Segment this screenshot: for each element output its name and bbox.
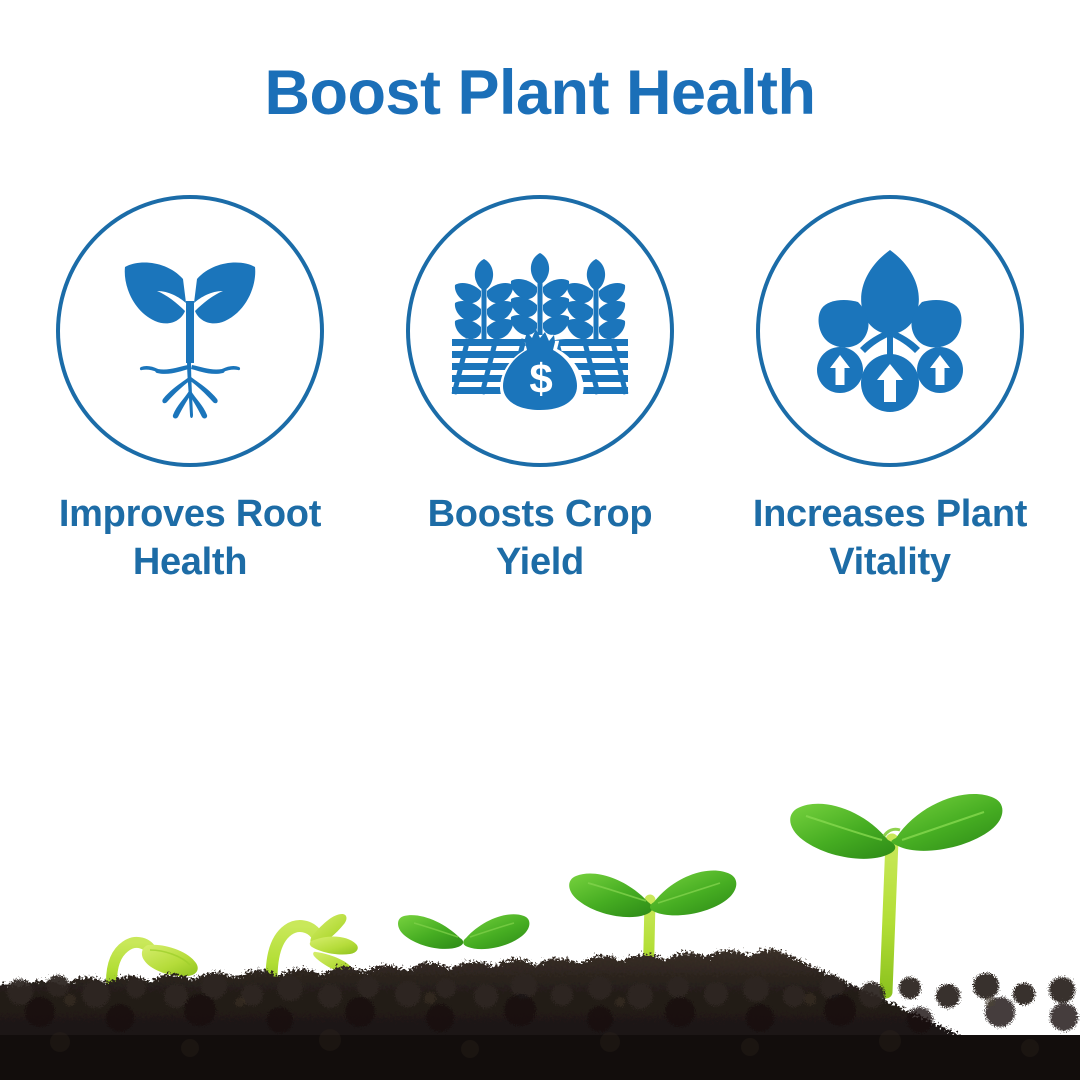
crop-field-money-bag-icon: $ <box>450 251 630 411</box>
infographic-canvas: Boost Plant Health <box>0 0 1080 1080</box>
feature-label-3-line2: Vitality <box>829 541 951 583</box>
feature-label-2: Boosts Crop Yield <box>375 491 705 586</box>
sprout-with-roots-icon <box>105 241 275 421</box>
feature-increases-plant-vitality[interactable]: Increases Plant Vitality <box>715 195 1065 586</box>
feature-icon-circle-3 <box>756 195 1024 467</box>
seedling-growth-photo <box>0 640 1080 1080</box>
feature-label-1-line2: Health <box>133 541 247 583</box>
feature-boosts-crop-yield[interactable]: $ Boosts Crop Yield <box>365 195 715 586</box>
feature-icon-circle-2: $ <box>406 195 674 467</box>
page-title: Boost Plant Health <box>0 60 1080 126</box>
feature-label-2-line1: Boosts Crop <box>428 493 653 535</box>
feature-improves-root-health[interactable]: Improves Root Health <box>15 195 365 586</box>
feature-label-3-line1: Increases Plant <box>753 493 1027 535</box>
feature-label-3: Increases Plant Vitality <box>725 491 1055 586</box>
feature-label-1: Improves Root Health <box>25 491 355 586</box>
feature-icon-circle-1 <box>56 195 324 467</box>
svg-text:$: $ <box>529 355 552 402</box>
feature-row: Improves Root Health <box>0 195 1080 586</box>
feature-label-2-line2: Yield <box>496 541 584 583</box>
plant-growth-arrows-icon <box>800 246 980 416</box>
feature-label-1-line1: Improves Root <box>59 493 321 535</box>
